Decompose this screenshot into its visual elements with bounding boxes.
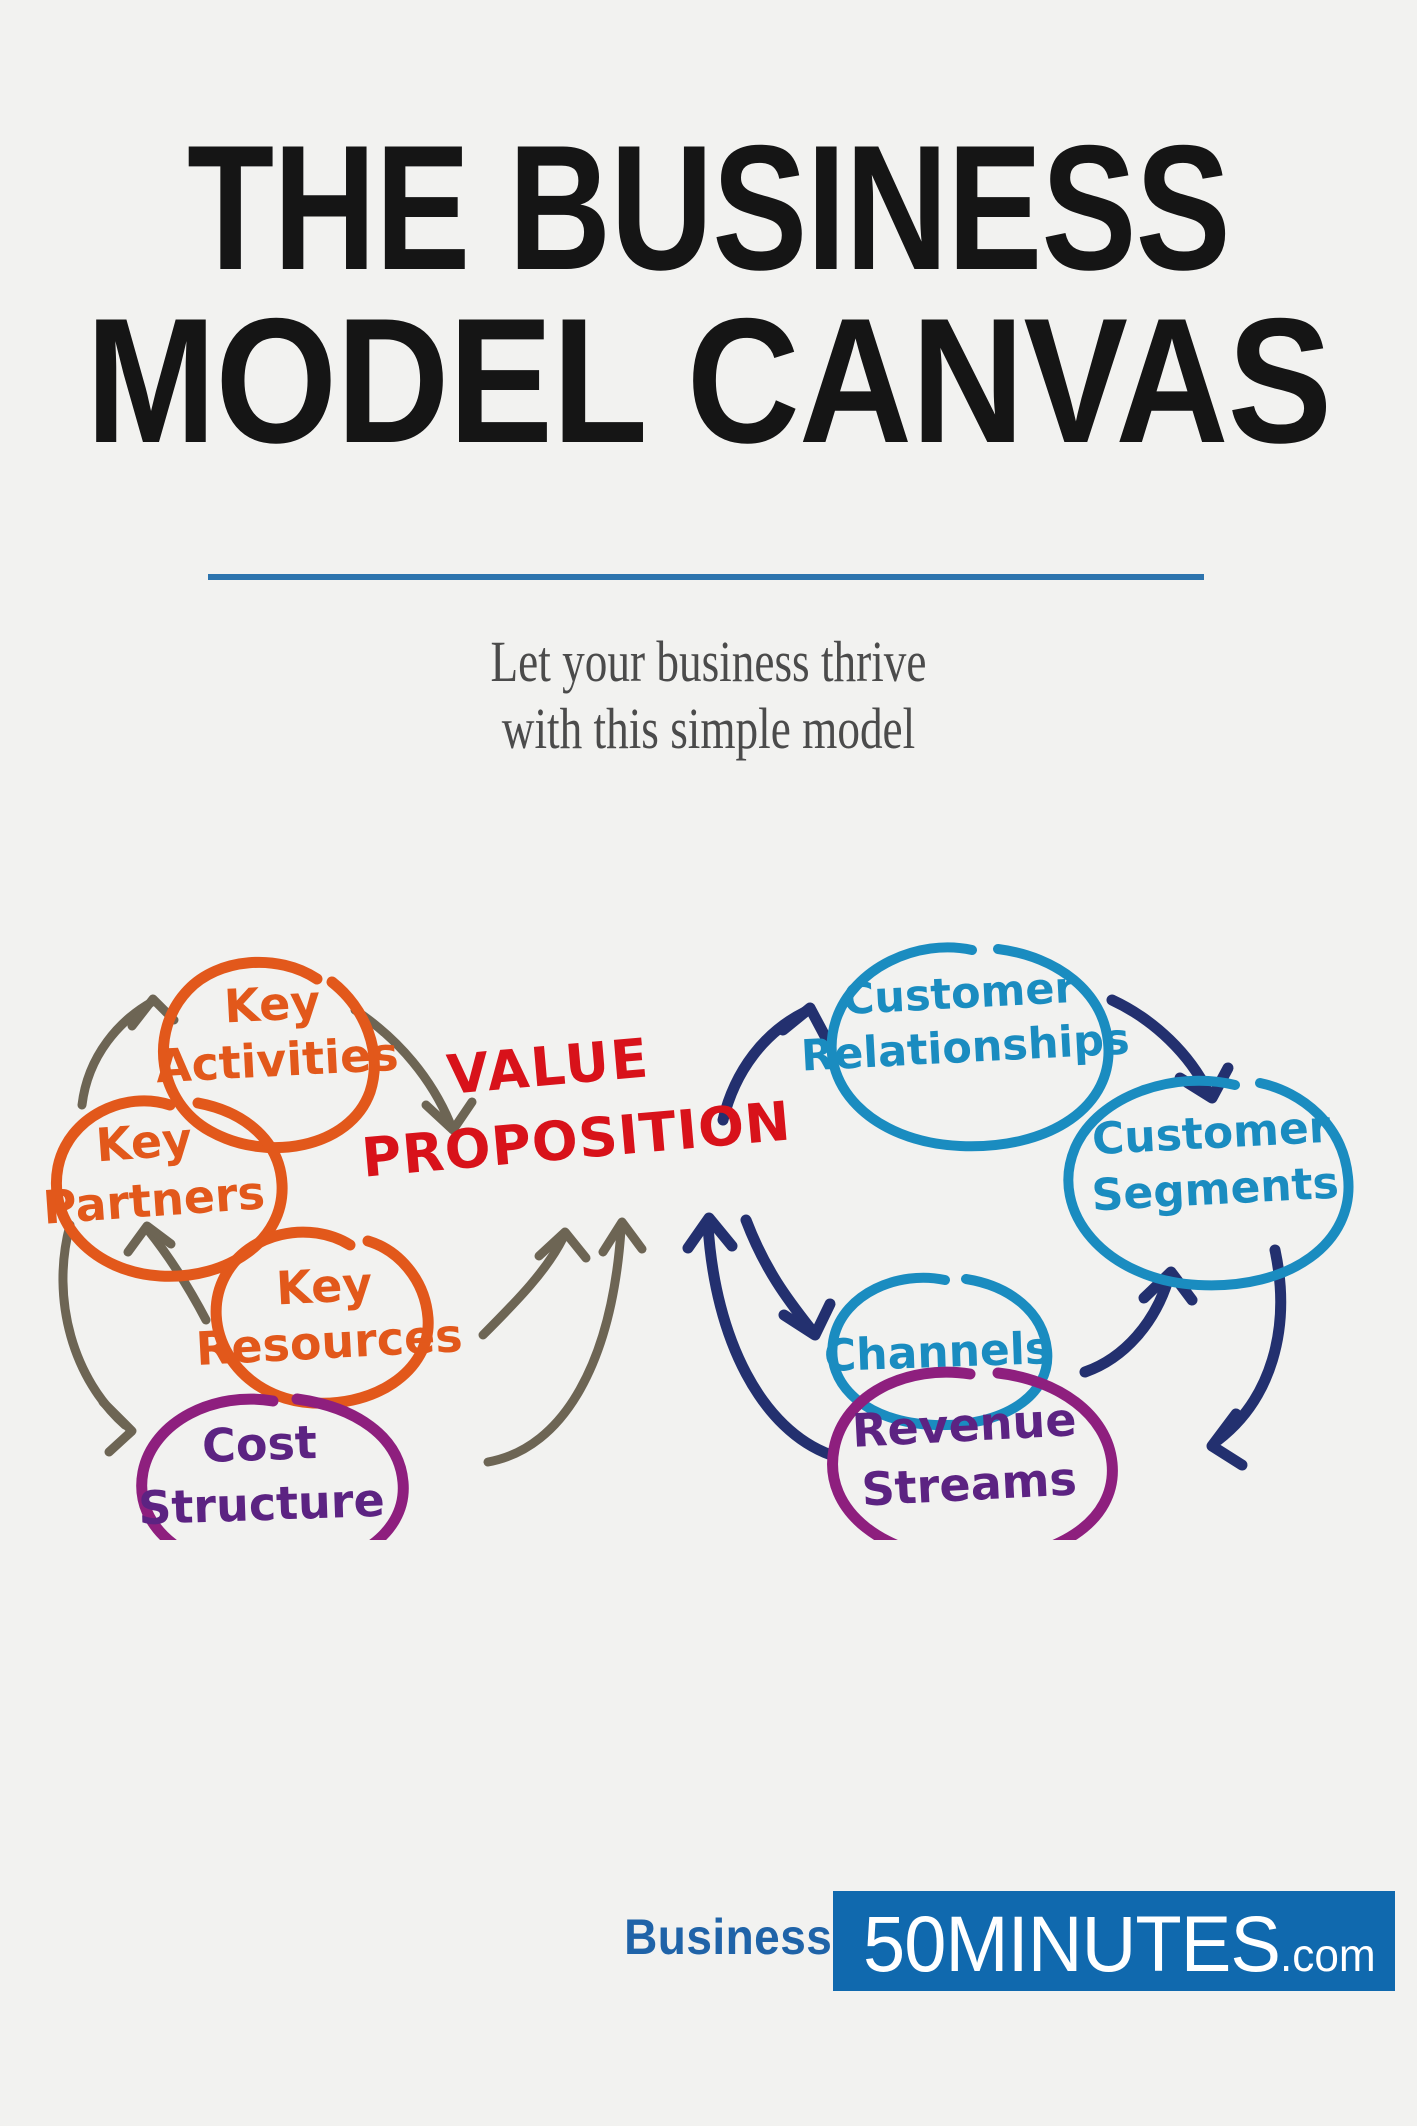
book-cover: THE BUSINESS MODEL CANVAS Let your busin…	[0, 0, 1417, 2126]
footer: Business 50MINUTES.com	[0, 1886, 1417, 1998]
page-title: THE BUSINESS MODEL CANVAS	[0, 122, 1417, 467]
title-divider	[208, 574, 1204, 580]
arrow-key-resources-to-value-proposition	[483, 1232, 586, 1335]
node-revenue-streams[interactable]: Revenue Streams	[833, 1372, 1113, 1540]
node-customer-segments[interactable]: Customer Segments	[1068, 1081, 1348, 1286]
node-customer-relationships[interactable]: Customer Relationships	[800, 947, 1131, 1146]
center-label-line-1: VALUE	[444, 1026, 652, 1106]
arrow-cost-structure-to-value-proposition	[488, 1222, 642, 1462]
node-label-revenue-streams-line-2: Streams	[860, 1451, 1078, 1516]
node-label-key-activities-line-2: Activities	[155, 1027, 400, 1094]
node-label-key-partners-line-1: Key	[94, 1112, 194, 1173]
title-line-1: THE BUSINESS	[142, 122, 1276, 295]
publisher-brand-name: 50MINUTES	[863, 1899, 1280, 1988]
subtitle-line-2: with this simple model	[156, 695, 1261, 762]
node-label-cost-structure-line-1: Cost	[201, 1415, 318, 1473]
subtitle: Let your business thrive with this simpl…	[0, 628, 1417, 763]
publisher-brand-tld: .com	[1280, 1929, 1376, 1981]
node-label-customer-segments-line-1: Customer	[1091, 1102, 1332, 1165]
node-label-customer-segments-line-2: Segments	[1090, 1158, 1340, 1222]
node-label-key-activities-line-1: Key	[223, 975, 322, 1034]
arrow-value-proposition-to-channels	[746, 1220, 830, 1335]
title-line-2: MODEL CANVAS	[85, 295, 1332, 468]
publisher-logo[interactable]: 50MINUTES.com	[833, 1891, 1395, 1991]
node-label-key-resources-line-2: Resources	[194, 1308, 463, 1376]
node-cost-structure[interactable]: Cost Structure	[137, 1399, 403, 1540]
publisher-brand: 50MINUTES.com	[863, 1898, 1376, 1990]
node-key-resources[interactable]: Key Resources	[194, 1232, 463, 1403]
node-label-key-partners-line-2: Partners	[41, 1165, 266, 1234]
node-label-revenue-streams-line-1: Revenue	[851, 1392, 1078, 1458]
node-label-key-resources-line-1: Key	[275, 1257, 374, 1316]
node-label-cost-structure-line-2: Structure	[137, 1473, 385, 1536]
node-key-activities[interactable]: Key Activities	[155, 962, 400, 1147]
business-model-canvas-diagram: Key Activities Key Partners Key Resource…	[20, 880, 1400, 1540]
subtitle-line-1: Let your business thrive	[156, 628, 1261, 695]
footer-category-label: Business	[624, 1908, 832, 1966]
